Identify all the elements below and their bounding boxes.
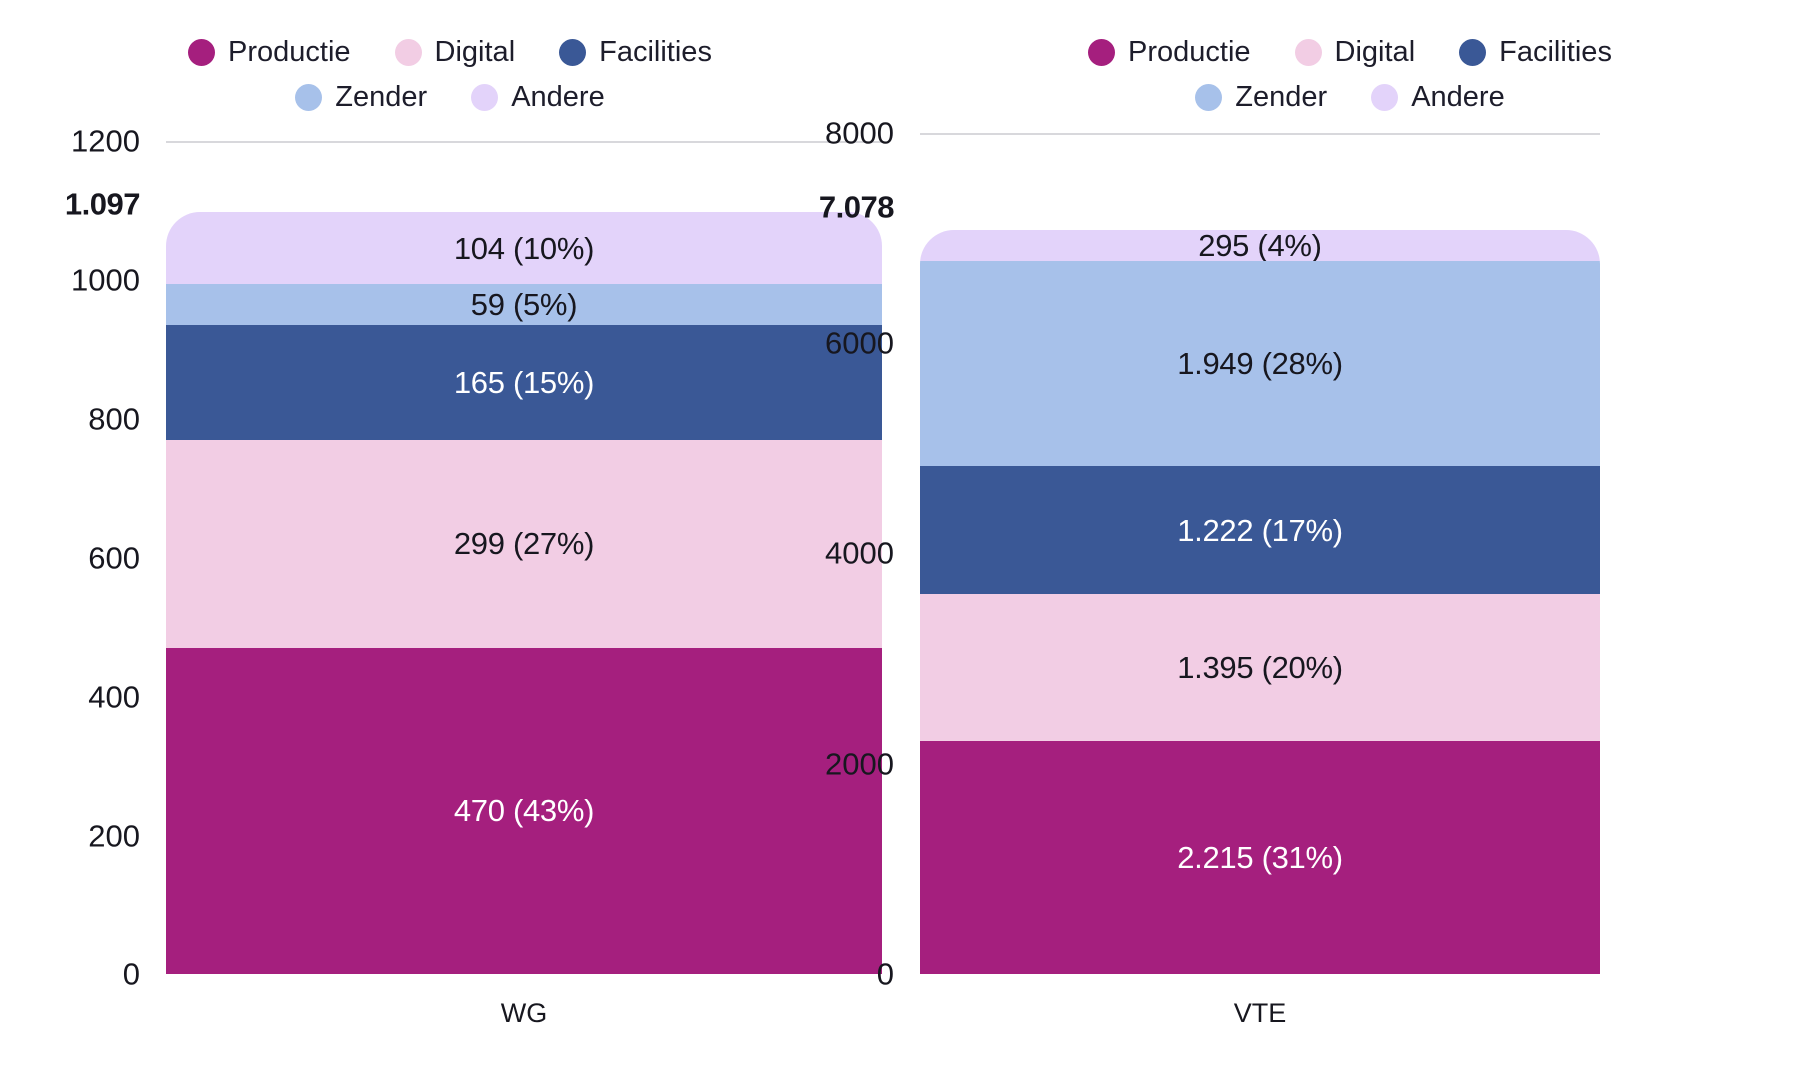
bar-segment-label-zender-wg: 59 (5%): [471, 289, 577, 320]
gridline-top-wg: [166, 141, 882, 143]
legend-label-zender: Zender: [335, 83, 427, 112]
bar-segment-facilities-vte[interactable]: 1.222 (17%): [920, 466, 1600, 594]
legend-label-productie-vte: Productie: [1128, 38, 1251, 67]
legend-row-1: Productie Digital Facilities: [188, 38, 712, 67]
bar-segment-zender-wg[interactable]: 59 (5%): [166, 284, 882, 325]
ytick-vte-4000: 4000: [825, 538, 894, 569]
ytick-wg-0: 0: [123, 959, 140, 990]
ytick-wg-400: 400: [88, 682, 140, 713]
bar-segment-digital-vte[interactable]: 1.395 (20%): [920, 594, 1600, 741]
legend-item-facilities-vte[interactable]: Facilities: [1459, 38, 1612, 67]
ytick-wg-1200: 1200: [71, 126, 140, 157]
bar-segment-productie-vte[interactable]: 2.215 (31%): [920, 741, 1600, 974]
legend-item-zender[interactable]: Zender: [295, 83, 427, 112]
chart-panel-vte: Productie Digital Facilities Zender: [900, 0, 1800, 1080]
legend-item-facilities[interactable]: Facilities: [559, 38, 712, 67]
bar-segment-label-facilities-wg: 165 (15%): [454, 367, 594, 398]
legend-vte: Productie Digital Facilities Zender: [900, 0, 1800, 112]
stacked-bar-vte[interactable]: 295 (4%) 1.949 (28%) 1.222 (17%) 1.395 (…: [920, 230, 1600, 974]
bar-segment-facilities-wg[interactable]: 165 (15%): [166, 325, 882, 440]
legend-item-andere[interactable]: Andere: [471, 83, 605, 112]
legend-swatch-digital-icon: [395, 39, 422, 66]
bar-segment-label-productie-wg: 470 (43%): [454, 795, 594, 826]
legend-label-facilities: Facilities: [599, 38, 712, 67]
ytick-wg-800: 800: [88, 404, 140, 435]
stacked-bar-wg[interactable]: 104 (10%) 59 (5%) 165 (15%) 299 (27%) 47…: [166, 212, 882, 974]
bar-segment-productie-wg[interactable]: 470 (43%): [166, 648, 882, 974]
legend-label-facilities-vte: Facilities: [1499, 38, 1612, 67]
ytick-vte-6000: 6000: [825, 328, 894, 359]
bar-segment-label-digital-wg: 299 (27%): [454, 528, 594, 559]
legend-label-andere-vte: Andere: [1411, 83, 1505, 112]
bar-segment-andere-wg[interactable]: 104 (10%): [166, 212, 882, 284]
legend-swatch-zender-icon: [1195, 84, 1222, 111]
legend-swatch-digital-icon: [1295, 39, 1322, 66]
ytick-vte-total: 7.078: [819, 192, 894, 223]
legend-swatch-andere-icon: [1371, 84, 1398, 111]
bar-segment-label-zender-vte: 1.949 (28%): [1177, 348, 1343, 379]
bar-segment-label-andere-vte: 295 (4%): [1198, 230, 1321, 261]
bar-segment-label-andere-wg: 104 (10%): [454, 233, 594, 264]
bar-segment-label-digital-vte: 1.395 (20%): [1177, 652, 1343, 683]
legend-swatch-productie-icon: [1088, 39, 1115, 66]
legend-item-digital-vte[interactable]: Digital: [1295, 38, 1416, 67]
legend-wg: Productie Digital Facilities Zender: [0, 0, 900, 112]
legend-swatch-andere-icon: [471, 84, 498, 111]
ytick-vte-0: 0: [877, 959, 894, 990]
legend-swatch-facilities-icon: [1459, 39, 1486, 66]
ytick-wg-200: 200: [88, 821, 140, 852]
chart-panel-wg: Productie Digital Facilities Zender: [0, 0, 900, 1080]
legend-row-1-vte: Productie Digital Facilities: [1088, 38, 1612, 67]
legend-label-productie: Productie: [228, 38, 351, 67]
x-axis-label-wg: WG: [166, 1000, 882, 1027]
legend-row-2: Zender Andere: [295, 83, 604, 112]
legend-item-digital[interactable]: Digital: [395, 38, 516, 67]
legend-label-digital-vte: Digital: [1335, 38, 1416, 67]
x-axis-label-vte: VTE: [920, 1000, 1600, 1027]
legend-item-zender-vte[interactable]: Zender: [1195, 83, 1327, 112]
bar-segment-digital-wg[interactable]: 299 (27%): [166, 440, 882, 648]
legend-item-productie[interactable]: Productie: [188, 38, 351, 67]
legend-item-andere-vte[interactable]: Andere: [1371, 83, 1505, 112]
bar-segment-label-productie-vte: 2.215 (31%): [1177, 842, 1343, 873]
legend-label-andere: Andere: [511, 83, 605, 112]
ytick-wg-600: 600: [88, 543, 140, 574]
legend-swatch-facilities-icon: [559, 39, 586, 66]
legend-label-digital: Digital: [435, 38, 516, 67]
ytick-wg-1000: 1000: [71, 265, 140, 296]
bar-segment-label-facilities-vte: 1.222 (17%): [1177, 515, 1343, 546]
ytick-wg-total: 1.097: [65, 189, 140, 220]
legend-label-zender-vte: Zender: [1235, 83, 1327, 112]
legend-swatch-productie-icon: [188, 39, 215, 66]
ytick-vte-2000: 2000: [825, 749, 894, 780]
chart-page: Productie Digital Facilities Zender: [0, 0, 1800, 1080]
legend-row-2-vte: Zender Andere: [1195, 83, 1504, 112]
legend-item-productie-vte[interactable]: Productie: [1088, 38, 1251, 67]
ytick-vte-8000: 8000: [825, 118, 894, 149]
legend-swatch-zender-icon: [295, 84, 322, 111]
gridline-top-vte: [920, 133, 1600, 135]
bar-segment-zender-vte[interactable]: 1.949 (28%): [920, 261, 1600, 466]
plot-area-vte: 8000 7.078 6000 4000 2000 0 295 (4%) 1.9…: [900, 112, 1800, 1080]
bar-segment-andere-vte[interactable]: 295 (4%): [920, 230, 1600, 261]
plot-area-wg: 1200 1.097 1000 800 600 400 200 0 104 (1…: [0, 112, 900, 1080]
